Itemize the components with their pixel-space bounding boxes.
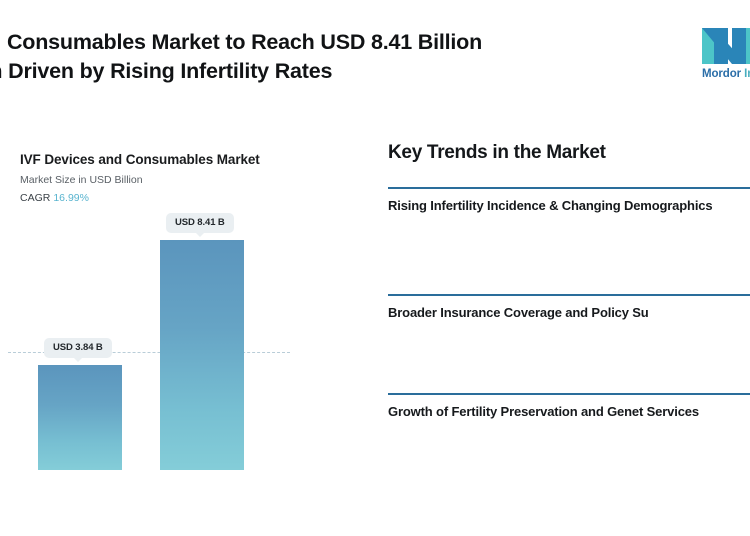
trend-separator-2 — [388, 294, 750, 296]
trend-item-1[interactable]: Rising Infertility Incidence & Changing … — [388, 197, 750, 215]
mordor-m-logo-icon — [702, 22, 750, 64]
trend-item-3[interactable]: Growth of Fertility Preservation and Gen… — [388, 403, 750, 421]
cagr-label: CAGR — [20, 192, 50, 204]
chart-title: IVF Devices and Consumables Market — [20, 152, 260, 167]
brand-logo[interactable]: Mordor Inte — [702, 22, 750, 92]
key-trends-panel: Key Trends in the Market Rising Infertil… — [388, 130, 750, 490]
bar-2030[interactable] — [160, 240, 244, 470]
chart-panel: IVF Devices and Consumables Market Marke… — [0, 130, 368, 520]
bar-2025[interactable] — [38, 365, 122, 470]
brand-word-bold: Mordor — [702, 68, 744, 80]
page-title: vices and Consumables Market to Reach US… — [0, 28, 640, 86]
headline-line-1: vices and Consumables Market to Reach US… — [0, 30, 482, 54]
slide-canvas: vices and Consumables Market to Reach US… — [0, 0, 750, 536]
headline-line-2: 0, Growth Driven by Rising Infertility R… — [0, 57, 640, 86]
brand-word-light: Inte — [744, 68, 750, 80]
chart-cagr: CAGR16.99% — [20, 192, 89, 204]
header-bar: vices and Consumables Market to Reach US… — [0, 0, 750, 106]
trend-item-2[interactable]: Broader Insurance Coverage and Policy Su — [388, 304, 750, 322]
trends-heading: Key Trends in the Market — [388, 142, 606, 164]
cagr-value: 16.99% — [53, 192, 89, 204]
trend-separator-3 — [388, 393, 750, 395]
bar-chart-plot: USD 3.84 B USD 8.41 B 2025 2030 Source :… — [0, 210, 368, 470]
chart-subtitle: Market Size in USD Billion — [20, 174, 143, 186]
bar-label-2025: USD 3.84 B — [44, 338, 112, 358]
brand-wordmark: Mordor Inte — [702, 68, 750, 80]
bar-label-2030: USD 8.41 B — [166, 213, 234, 233]
trend-separator-1 — [388, 187, 750, 189]
